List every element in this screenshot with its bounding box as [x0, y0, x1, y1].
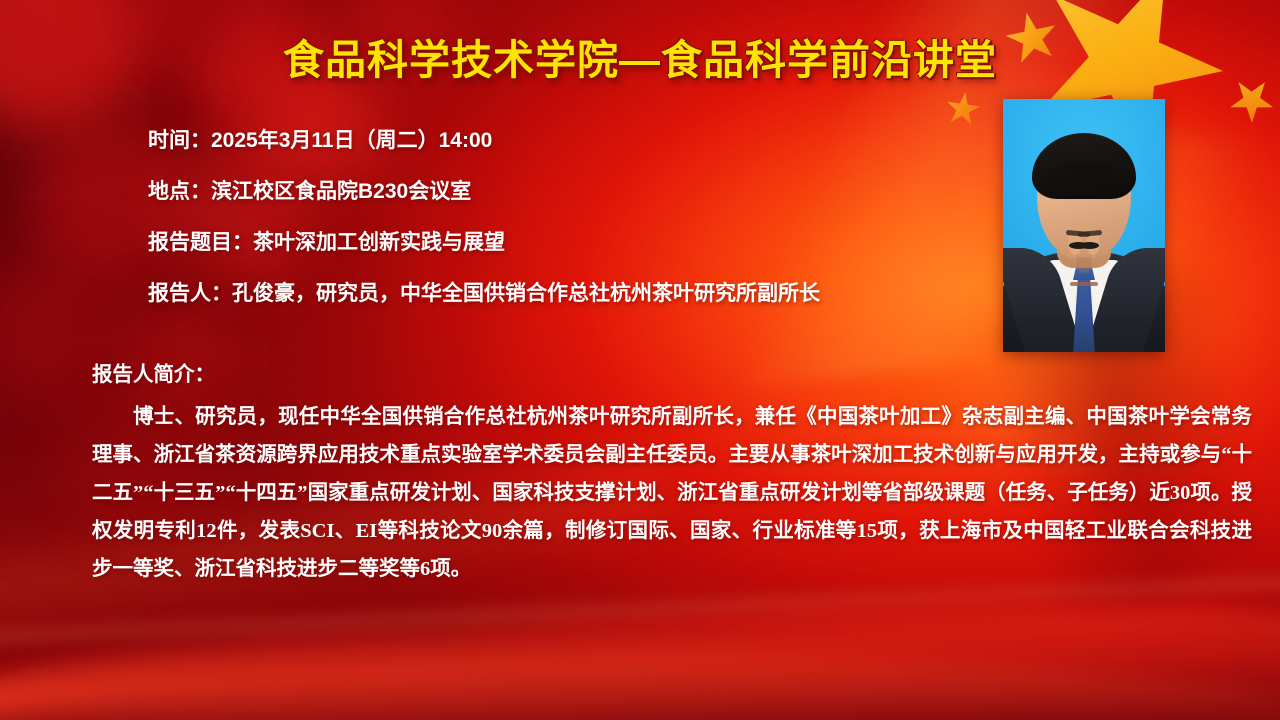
bio-text: 博士、研究员，现任中华全国供销合作总社杭州茶叶研究所副所长，兼任《中国茶叶加工》… — [92, 398, 1252, 588]
event-time-line: 时间：2025年3月11日（周二）14:00 — [148, 130, 820, 151]
speaker-portrait — [1003, 99, 1165, 352]
bio-heading: 报告人简介： — [92, 356, 1252, 394]
portrait-mouth — [1070, 282, 1098, 286]
portrait-photo — [1003, 99, 1165, 352]
page-title: 食品科学技术学院—食品科学前沿讲堂 — [0, 38, 1280, 83]
event-location-line: 地点：滨江校区食品院B230会议室 — [148, 181, 820, 202]
event-topic-line: 报告题目：茶叶深加工创新实践与展望 — [148, 232, 820, 253]
poster-root: 食品科学技术学院—食品科学前沿讲堂 时间：2025年3月11日（周二）14:00… — [0, 0, 1280, 720]
portrait-eye-right — [1069, 242, 1088, 249]
event-speaker-line: 报告人：孔俊豪，研究员，中华全国供销合作总社杭州茶叶研究所副所长 — [148, 283, 820, 304]
event-info-block: 时间：2025年3月11日（周二）14:00 地点：滨江校区食品院B230会议室… — [148, 130, 820, 304]
portrait-nose — [1077, 257, 1092, 273]
speaker-bio-block: 报告人简介： 博士、研究员，现任中华全国供销合作总社杭州茶叶研究所副所长，兼任《… — [92, 356, 1252, 588]
